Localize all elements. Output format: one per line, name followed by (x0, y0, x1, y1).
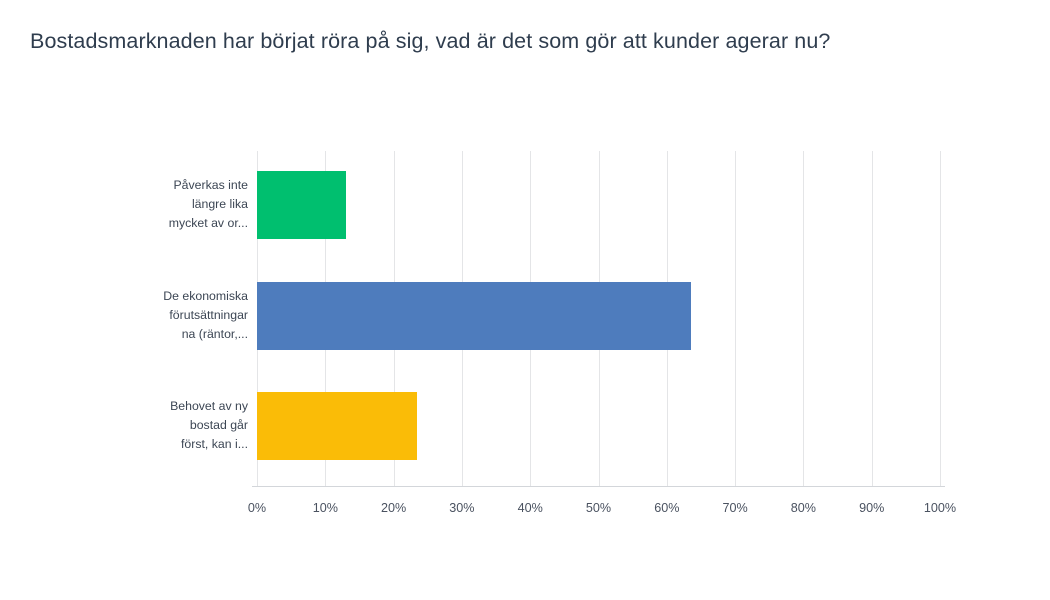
x-tick-label-2: 20% (364, 500, 424, 516)
x-tick-label-5: 50% (569, 500, 629, 516)
gridline-90% (872, 151, 873, 486)
bar-2[interactable] (257, 392, 417, 460)
bar-0[interactable] (257, 171, 346, 239)
x-tick-label-3: 30% (432, 500, 492, 516)
x-tick-label-4: 40% (500, 500, 560, 516)
bar-chart: Påverkas inte längre lika mycket av or..… (0, 0, 1050, 600)
x-axis-line (252, 486, 945, 487)
y-axis-label-2: Behovet av ny bostad går först, kan i... (112, 397, 248, 454)
x-tick-label-9: 90% (842, 500, 902, 516)
y-axis-label-0: Påverkas inte längre lika mycket av or..… (112, 176, 248, 233)
gridline-70% (735, 151, 736, 486)
x-tick-label-7: 70% (705, 500, 765, 516)
y-axis-label-1: De ekonomiska förutsättningar na (räntor… (112, 287, 248, 344)
bar-1[interactable] (257, 282, 691, 350)
x-tick-label-8: 80% (773, 500, 833, 516)
x-tick-label-10: 100% (910, 500, 970, 516)
gridline-100% (940, 151, 941, 486)
x-tick-label-1: 10% (295, 500, 355, 516)
x-tick-label-6: 60% (637, 500, 697, 516)
gridline-80% (803, 151, 804, 486)
chart-page: Bostadsmarknaden har börjat röra på sig,… (0, 0, 1050, 600)
x-tick-label-0: 0% (227, 500, 287, 516)
